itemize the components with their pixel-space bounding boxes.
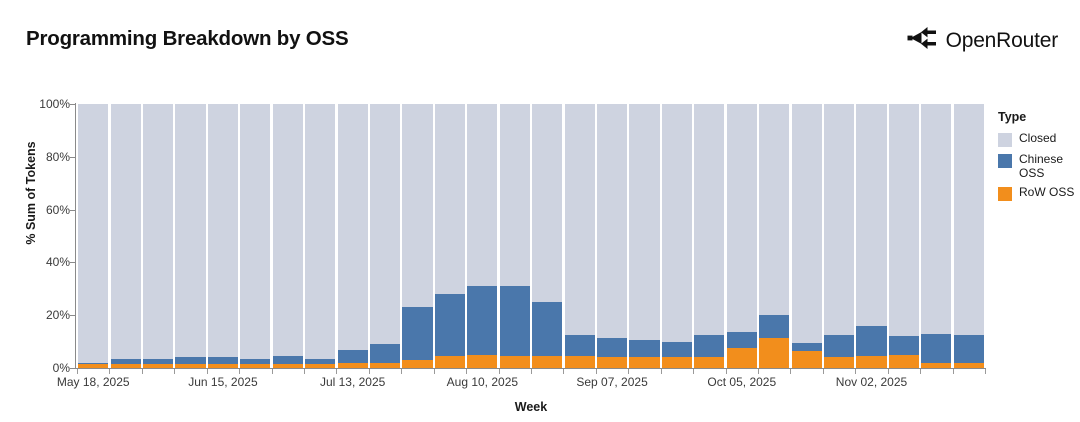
x-axis-tick-mark (531, 369, 532, 374)
legend-item[interactable]: Chinese OSS (998, 153, 1080, 180)
bar-column[interactable] (240, 104, 270, 368)
x-axis-tick-mark (726, 369, 727, 374)
legend-swatch-row_oss (998, 187, 1012, 201)
bar-segment-closed[interactable] (435, 104, 465, 294)
bar-segment-chinese-oss[interactable] (402, 307, 432, 360)
bar-segment-row-oss[interactable] (402, 360, 432, 368)
x-axis-tick-mark (174, 369, 175, 374)
legend-item[interactable]: RoW OSS (998, 186, 1080, 201)
bar-segment-closed[interactable] (662, 104, 692, 342)
x-axis-title: Week (77, 400, 985, 414)
bar-segment-chinese-oss[interactable] (78, 363, 108, 364)
bar-segment-closed[interactable] (467, 104, 497, 286)
bar-segment-closed[interactable] (759, 104, 789, 315)
stacked-bar-plot-area (77, 104, 985, 368)
x-axis-tick-mark (336, 369, 337, 374)
x-axis-tick-mark (401, 369, 402, 374)
bar-segment-chinese-oss[interactable] (889, 336, 919, 354)
bar-segment-row-oss[interactable] (597, 357, 627, 368)
bar-segment-chinese-oss[interactable] (500, 286, 530, 356)
bar-segment-chinese-oss[interactable] (759, 315, 789, 337)
bar-segment-closed[interactable] (856, 104, 886, 326)
bar-segment-row-oss[interactable] (662, 357, 692, 368)
x-axis-tick-mark (790, 369, 791, 374)
y-axis-tick-mark (70, 315, 75, 316)
bar-segment-closed[interactable] (629, 104, 659, 340)
bar-column[interactable] (532, 104, 562, 368)
bar-column[interactable] (500, 104, 530, 368)
bar-segment-chinese-oss[interactable] (111, 359, 141, 364)
x-axis-tick-mark (142, 369, 143, 374)
bar-segment-closed[interactable] (240, 104, 270, 359)
bar-segment-closed[interactable] (824, 104, 854, 335)
bar-segment-closed[interactable] (500, 104, 530, 286)
bar-segment-closed[interactable] (921, 104, 951, 334)
bar-segment-chinese-oss[interactable] (629, 340, 659, 357)
x-axis-tick-mark (985, 369, 986, 374)
bar-segment-closed[interactable] (402, 104, 432, 307)
bar-segment-chinese-oss[interactable] (921, 334, 951, 363)
bar-segment-row-oss[interactable] (500, 356, 530, 368)
bar-segment-chinese-oss[interactable] (305, 359, 335, 364)
y-axis-tick-label: 0% (22, 361, 70, 375)
bar-column[interactable] (175, 104, 205, 368)
legend-title: Type (998, 110, 1080, 124)
bar-segment-chinese-oss[interactable] (175, 357, 205, 364)
bar-segment-closed[interactable] (273, 104, 303, 356)
bar-column[interactable] (467, 104, 497, 368)
bar-segment-chinese-oss[interactable] (565, 335, 595, 356)
y-axis-tick-label: 100% (22, 97, 70, 111)
x-axis-tick-mark (466, 369, 467, 374)
x-axis-tick-mark (207, 369, 208, 374)
bar-segment-closed[interactable] (597, 104, 627, 338)
legend-label: Closed (1019, 132, 1056, 146)
bar-column[interactable] (921, 104, 951, 368)
bar-segment-chinese-oss[interactable] (792, 343, 822, 351)
x-axis-tick-mark (596, 369, 597, 374)
bar-segment-closed[interactable] (532, 104, 562, 302)
bar-segment-closed[interactable] (111, 104, 141, 359)
legend-swatch-closed (998, 133, 1012, 147)
bar-segment-row-oss[interactable] (532, 356, 562, 368)
bar-segment-row-oss[interactable] (856, 356, 886, 368)
legend-label: Chinese OSS (1019, 153, 1080, 180)
bar-column[interactable] (338, 104, 368, 368)
x-axis-tick-mark (693, 369, 694, 374)
bar-segment-chinese-oss[interactable] (338, 350, 368, 363)
bar-segment-closed[interactable] (727, 104, 757, 332)
x-axis-tick-mark (855, 369, 856, 374)
bar-segment-row-oss[interactable] (435, 356, 465, 368)
x-axis-tick-mark (77, 369, 78, 374)
bar-segment-closed[interactable] (889, 104, 919, 336)
bar-segment-closed[interactable] (143, 104, 173, 359)
y-axis-tick-mark (70, 368, 75, 369)
bar-segment-row-oss[interactable] (565, 356, 595, 368)
bar-segment-chinese-oss[interactable] (208, 357, 238, 364)
bar-column[interactable] (824, 104, 854, 368)
bar-segment-closed[interactable] (792, 104, 822, 343)
legend-items: ClosedChinese OSSRoW OSS (998, 132, 1080, 201)
bar-segment-closed[interactable] (954, 104, 984, 335)
bar-column[interactable] (111, 104, 141, 368)
bar-column[interactable] (78, 104, 108, 368)
y-axis-tick-mark (70, 210, 75, 211)
bar-segment-row-oss[interactable] (727, 348, 757, 368)
bar-column[interactable] (402, 104, 432, 368)
x-axis-tick-mark (888, 369, 889, 374)
x-axis-tick-mark (661, 369, 662, 374)
bar-segment-row-oss[interactable] (889, 355, 919, 368)
legend-label: RoW OSS (1019, 186, 1074, 200)
bar-column[interactable] (208, 104, 238, 368)
chart-legend: Type ClosedChinese OSSRoW OSS (998, 110, 1080, 207)
x-axis-tick-label: Aug 10, 2025 (447, 375, 518, 389)
bar-column[interactable] (954, 104, 984, 368)
bar-segment-chinese-oss[interactable] (370, 344, 400, 362)
bar-column[interactable] (727, 104, 757, 368)
x-axis-tick-mark (628, 369, 629, 374)
y-axis-tick-label: 80% (22, 150, 70, 164)
y-axis-tick-labels: 0%20%40%60%80%100% (20, 0, 70, 422)
bar-column[interactable] (565, 104, 595, 368)
bar-segment-chinese-oss[interactable] (727, 332, 757, 348)
legend-item[interactable]: Closed (998, 132, 1080, 147)
bar-segment-chinese-oss[interactable] (954, 335, 984, 363)
bar-column[interactable] (435, 104, 465, 368)
bar-segment-closed[interactable] (208, 104, 238, 357)
bar-segment-row-oss[interactable] (629, 357, 659, 368)
bar-column[interactable] (143, 104, 173, 368)
bar-segment-chinese-oss[interactable] (597, 338, 627, 358)
bar-segment-chinese-oss[interactable] (273, 356, 303, 364)
bar-segment-closed[interactable] (370, 104, 400, 344)
bar-segment-chinese-oss[interactable] (467, 286, 497, 355)
bar-segment-closed[interactable] (565, 104, 595, 335)
bar-segment-row-oss[interactable] (824, 357, 854, 368)
x-axis-tick-label: Jul 13, 2025 (320, 375, 385, 389)
x-axis-tick-mark (499, 369, 500, 374)
chart-plot-wrapper: % Sum of Tokens 0%20%40%60%80%100% May 1… (0, 0, 1080, 422)
y-axis-line (75, 103, 76, 369)
bar-column[interactable] (273, 104, 303, 368)
x-axis-tick-mark (920, 369, 921, 374)
y-axis-tick-label: 60% (22, 203, 70, 217)
legend-swatch-chinese_oss (998, 154, 1012, 168)
bar-column[interactable] (792, 104, 822, 368)
x-axis-tick-label: Jun 15, 2025 (188, 375, 257, 389)
bar-segment-chinese-oss[interactable] (435, 294, 465, 356)
bar-segment-chinese-oss[interactable] (240, 359, 270, 364)
bar-column[interactable] (370, 104, 400, 368)
bar-segment-row-oss[interactable] (694, 357, 724, 368)
x-axis-tick-mark (953, 369, 954, 374)
bar-segment-row-oss[interactable] (792, 351, 822, 368)
bar-segment-closed[interactable] (338, 104, 368, 350)
bar-segment-closed[interactable] (305, 104, 335, 359)
bar-column[interactable] (759, 104, 789, 368)
x-axis-tick-label: Sep 07, 2025 (576, 375, 647, 389)
y-axis-tick-mark (70, 157, 75, 158)
bar-segment-chinese-oss[interactable] (694, 335, 724, 357)
bar-column[interactable] (856, 104, 886, 368)
bar-segment-chinese-oss[interactable] (856, 326, 886, 356)
bar-segment-chinese-oss[interactable] (143, 359, 173, 364)
bar-column[interactable] (889, 104, 919, 368)
y-axis-tick-mark (70, 262, 75, 263)
x-axis-tick-label: May 18, 2025 (57, 375, 130, 389)
bar-column[interactable] (629, 104, 659, 368)
x-axis-tick-mark (272, 369, 273, 374)
bar-segment-closed[interactable] (78, 104, 108, 363)
bar-segment-row-oss[interactable] (467, 355, 497, 368)
x-axis-tick-mark (563, 369, 564, 374)
bar-segment-closed[interactable] (175, 104, 205, 357)
x-axis-tick-label: Oct 05, 2025 (707, 375, 776, 389)
x-axis-tick-mark (239, 369, 240, 374)
x-axis-tick-mark (369, 369, 370, 374)
bar-column[interactable] (694, 104, 724, 368)
bar-segment-closed[interactable] (694, 104, 724, 335)
x-axis-tick-mark (304, 369, 305, 374)
x-axis-tick-mark (109, 369, 110, 374)
bar-segment-chinese-oss[interactable] (532, 302, 562, 356)
x-axis-tick-label: Nov 02, 2025 (836, 375, 907, 389)
bar-column[interactable] (662, 104, 692, 368)
bar-segment-chinese-oss[interactable] (824, 335, 854, 357)
bar-segment-row-oss[interactable] (759, 338, 789, 368)
y-axis-tick-label: 40% (22, 255, 70, 269)
y-axis-tick-mark (70, 104, 75, 105)
bar-segment-chinese-oss[interactable] (662, 342, 692, 358)
y-axis-tick-label: 20% (22, 308, 70, 322)
x-axis-tick-mark (434, 369, 435, 374)
x-axis-tick-mark (758, 369, 759, 374)
x-axis-tick-mark (823, 369, 824, 374)
bar-column[interactable] (597, 104, 627, 368)
bar-column[interactable] (305, 104, 335, 368)
